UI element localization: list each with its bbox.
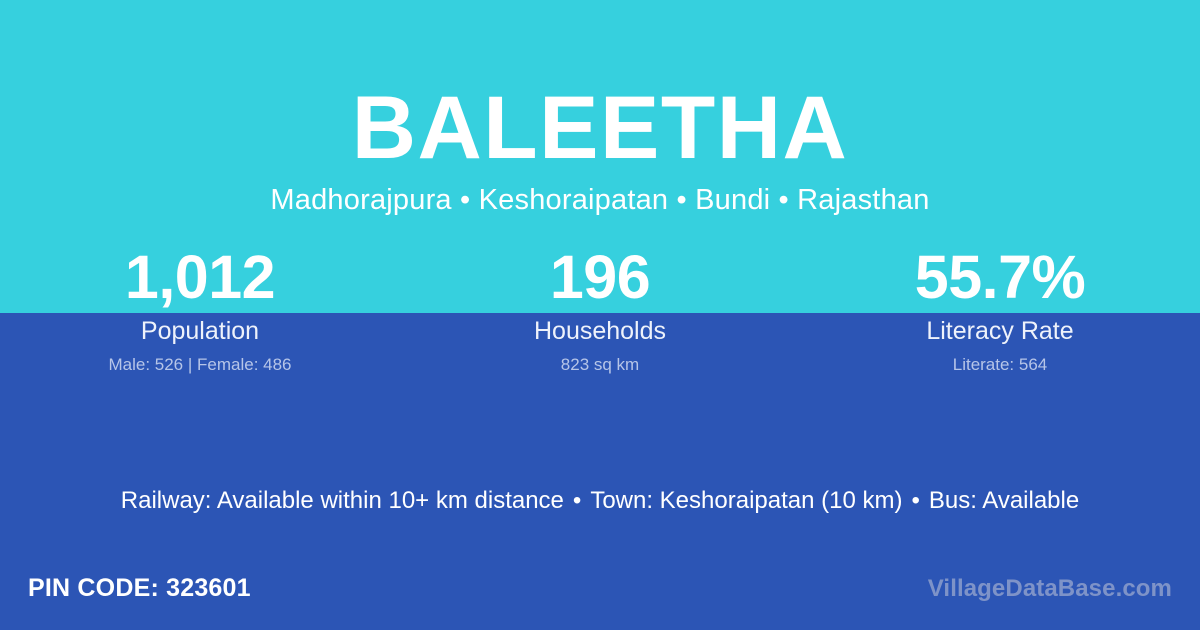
stats-row: 1,012 Population Male: 526 | Female: 486… <box>0 246 1200 375</box>
bullet-separator-icon: • <box>902 485 928 516</box>
stat-households-label: Households <box>400 317 800 346</box>
stat-households: 196 Households 823 sq km <box>400 246 800 375</box>
infrastructure-railway: Railway: Available within 10+ km distanc… <box>121 487 564 514</box>
pin-code: PIN CODE: 323601 <box>28 573 251 603</box>
footer-bar: PIN CODE: 323601 VillageDataBase.com <box>0 568 1200 630</box>
stat-population: 1,012 Population Male: 526 | Female: 486 <box>0 246 400 375</box>
stat-literacy-rate: 55.7% Literacy Rate Literate: 564 <box>800 246 1200 375</box>
stat-literacy-rate-label: Literacy Rate <box>800 317 1200 346</box>
stat-population-label: Population <box>0 317 400 346</box>
page-title: BALEETHA <box>0 79 1200 175</box>
stat-literacy-rate-sub: Literate: 564 <box>800 354 1200 375</box>
site-branding: VillageDataBase.com <box>928 574 1172 604</box>
stat-households-value: 196 <box>400 246 800 308</box>
stat-households-sub: 823 sq km <box>400 354 800 375</box>
village-info-card: BALEETHA Madhorajpura • Keshoraipatan • … <box>0 0 1200 630</box>
infrastructure-town: Town: Keshoraipatan (10 km) <box>590 487 902 514</box>
bullet-separator-icon: • <box>564 485 590 516</box>
breadcrumb: Madhorajpura • Keshoraipatan • Bundi • R… <box>0 181 1200 219</box>
stat-population-value: 1,012 <box>0 246 400 308</box>
infrastructure-bus: Bus: Available <box>929 487 1079 514</box>
infrastructure-summary: Railway: Available within 10+ km distanc… <box>0 485 1200 516</box>
stat-population-sub: Male: 526 | Female: 486 <box>0 354 400 375</box>
stat-literacy-rate-value: 55.7% <box>800 246 1200 308</box>
